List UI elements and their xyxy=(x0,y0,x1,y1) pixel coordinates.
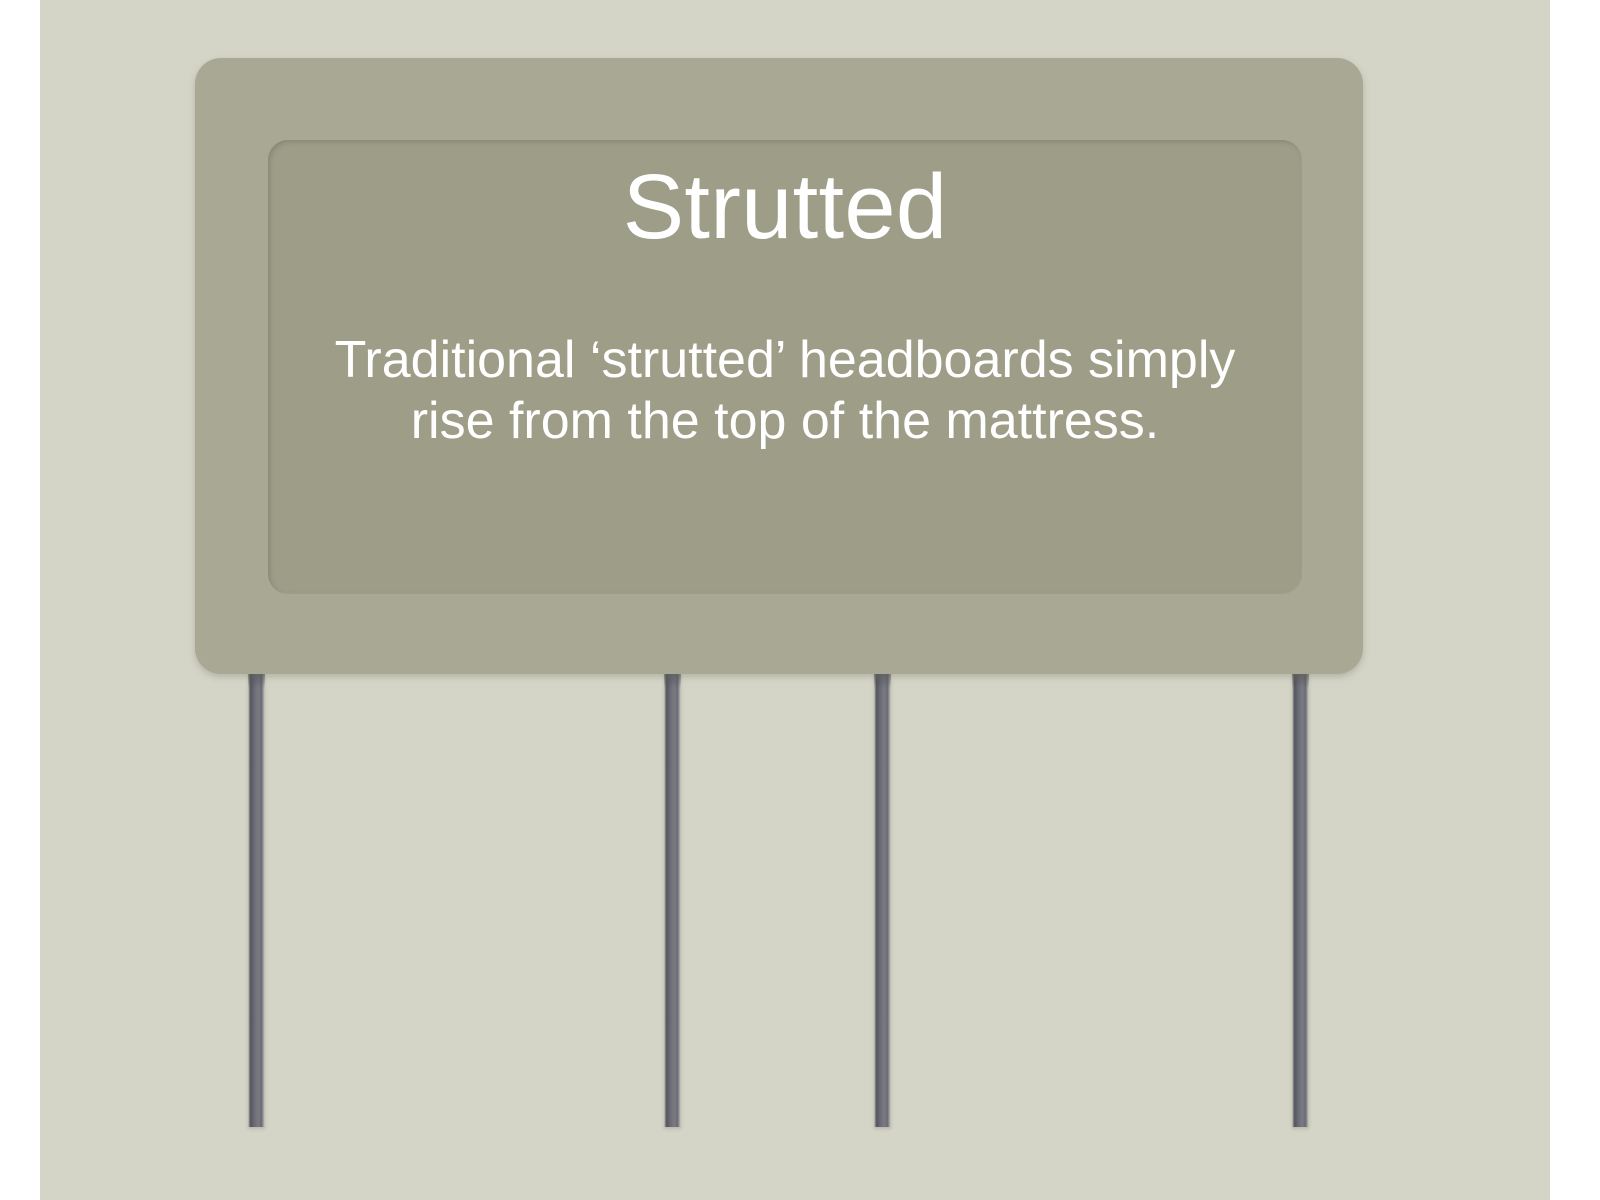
slide-title: Strutted xyxy=(268,158,1302,257)
headboard-strut-4 xyxy=(1292,662,1309,1127)
headboard-strut-3 xyxy=(874,662,891,1127)
slide-body-text: Traditional ‘strutted’ headboards simply… xyxy=(308,330,1262,453)
headboard-inner-panel: Strutted Traditional ‘strutted’ headboar… xyxy=(268,140,1302,594)
headboard-strut-1 xyxy=(248,662,265,1127)
headboard-outer-panel: Strutted Traditional ‘strutted’ headboar… xyxy=(195,58,1363,674)
slide-canvas: Strutted Traditional ‘strutted’ headboar… xyxy=(0,0,1600,1200)
headboard-strut-2 xyxy=(664,662,681,1127)
